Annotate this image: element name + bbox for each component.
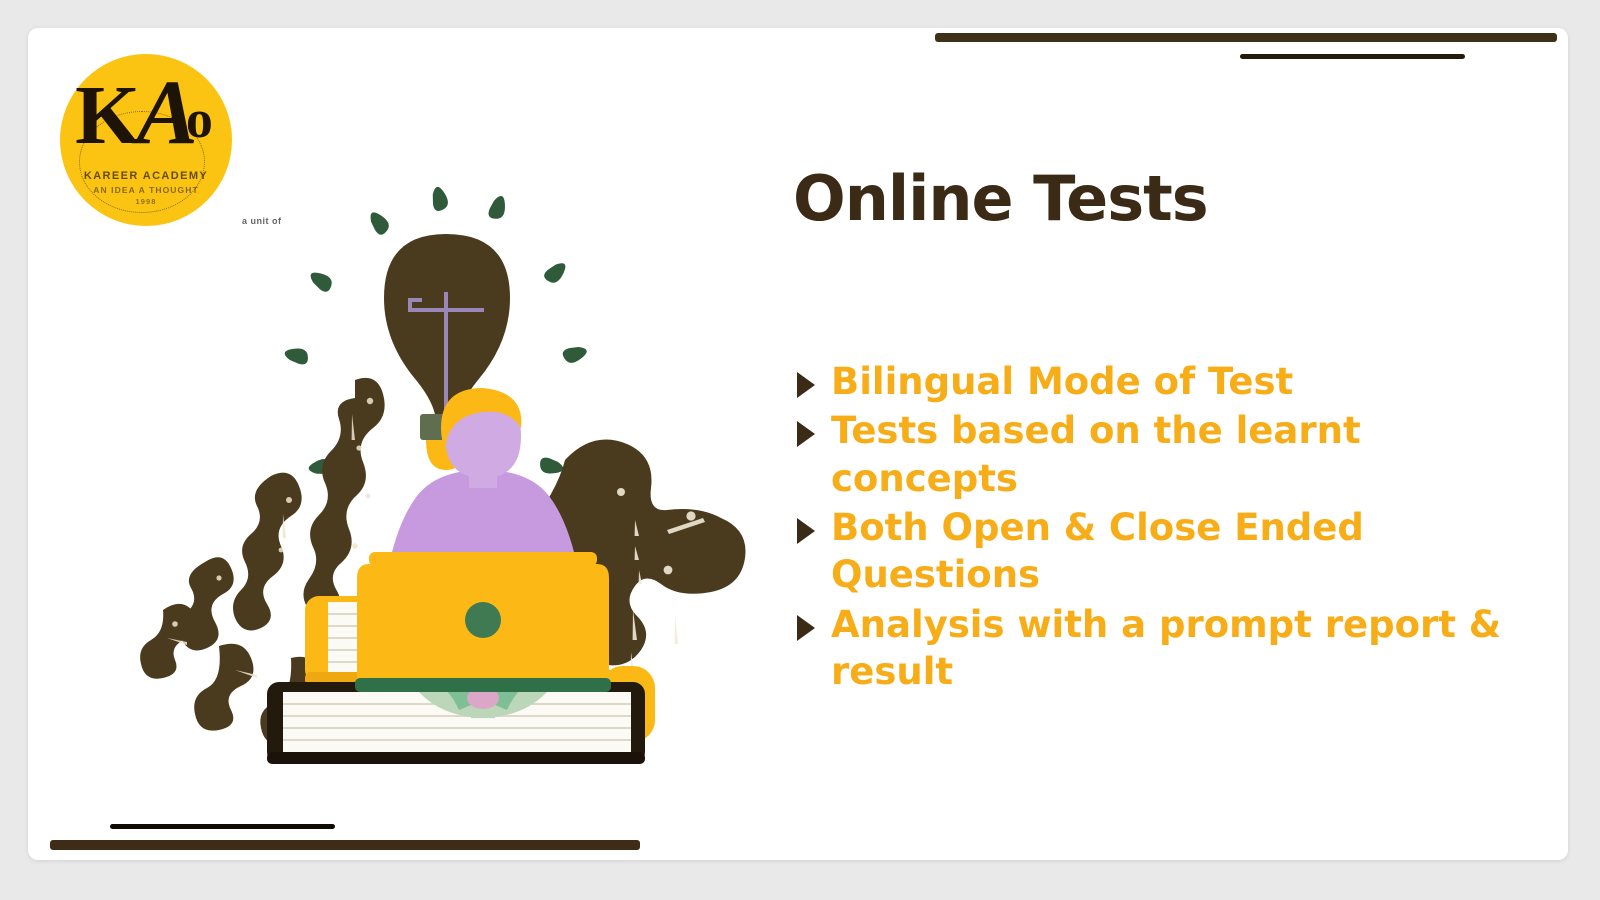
list-item[interactable]: Both Open & Close Ended Questions xyxy=(797,504,1533,599)
triangle-right-icon xyxy=(797,372,815,398)
list-item-label: Bilingual Mode of Test xyxy=(831,358,1293,405)
bottom-left-thin-rule xyxy=(110,824,335,829)
slide-card: KAo KAREER ACADEMY AN IDEA A THOUGHT 199… xyxy=(28,28,1568,860)
list-item-label: Analysis with a prompt report & result xyxy=(831,601,1521,696)
person-figure-icon xyxy=(355,388,611,718)
page-title: Online Tests xyxy=(793,168,1533,230)
logo-monogram-o: o xyxy=(186,89,209,149)
triangle-right-icon xyxy=(797,518,815,544)
logo-monogram: KAo xyxy=(60,70,232,167)
list-item[interactable]: Analysis with a prompt report & result xyxy=(797,601,1533,696)
feature-bullet-list: Bilingual Mode of Test Tests based on th… xyxy=(797,358,1533,696)
triangle-right-icon xyxy=(797,421,815,447)
list-item[interactable]: Bilingual Mode of Test xyxy=(797,358,1533,405)
triangle-right-icon xyxy=(797,615,815,641)
list-item-label: Tests based on the learnt concepts xyxy=(831,407,1521,502)
top-right-thin-rule xyxy=(1240,54,1465,59)
list-item-label: Both Open & Close Ended Questions xyxy=(831,504,1521,599)
slide-root: KAo KAREER ACADEMY AN IDEA A THOUGHT 199… xyxy=(0,0,1600,900)
logo-monogram-k: K xyxy=(75,69,136,162)
content-column: Online Tests Bilingual Mode of Test Test… xyxy=(763,168,1533,698)
bottom-left-thick-rule xyxy=(50,840,640,850)
list-item[interactable]: Tests based on the learnt concepts xyxy=(797,407,1533,502)
student-with-laptop-illustration xyxy=(123,158,763,768)
top-right-thick-rule xyxy=(935,33,1557,42)
